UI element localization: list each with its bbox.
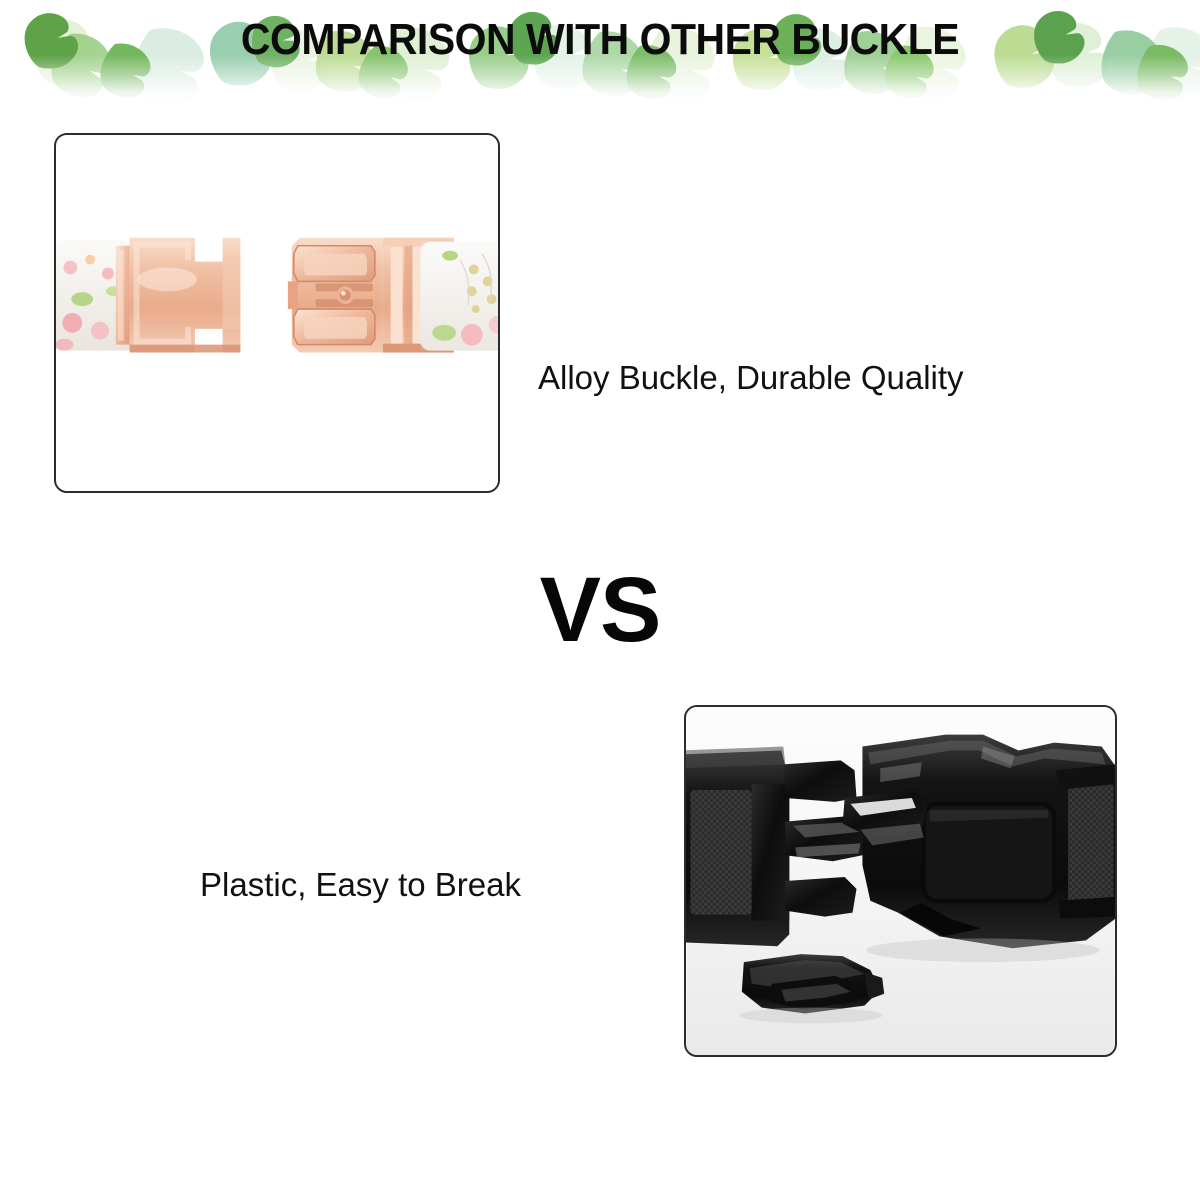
alloy-buckle-photo-frame [54,133,500,493]
plastic-buckle-caption: Plastic, Easy to Break [200,865,521,905]
alloy-buckle-caption: Alloy Buckle, Durable Quality [538,358,964,398]
rose-gold-alloy-buckle-photo [56,135,498,491]
plastic-buckle-photo-frame [684,705,1117,1057]
page-title: COMPARISON WITH OTHER BUCKLE [42,16,1158,64]
infographic-page: COMPARISON WITH OTHER BUCKLE [0,0,1200,1183]
black-plastic-buckle-photo [686,707,1115,1055]
vs-label: VS [0,562,1200,658]
